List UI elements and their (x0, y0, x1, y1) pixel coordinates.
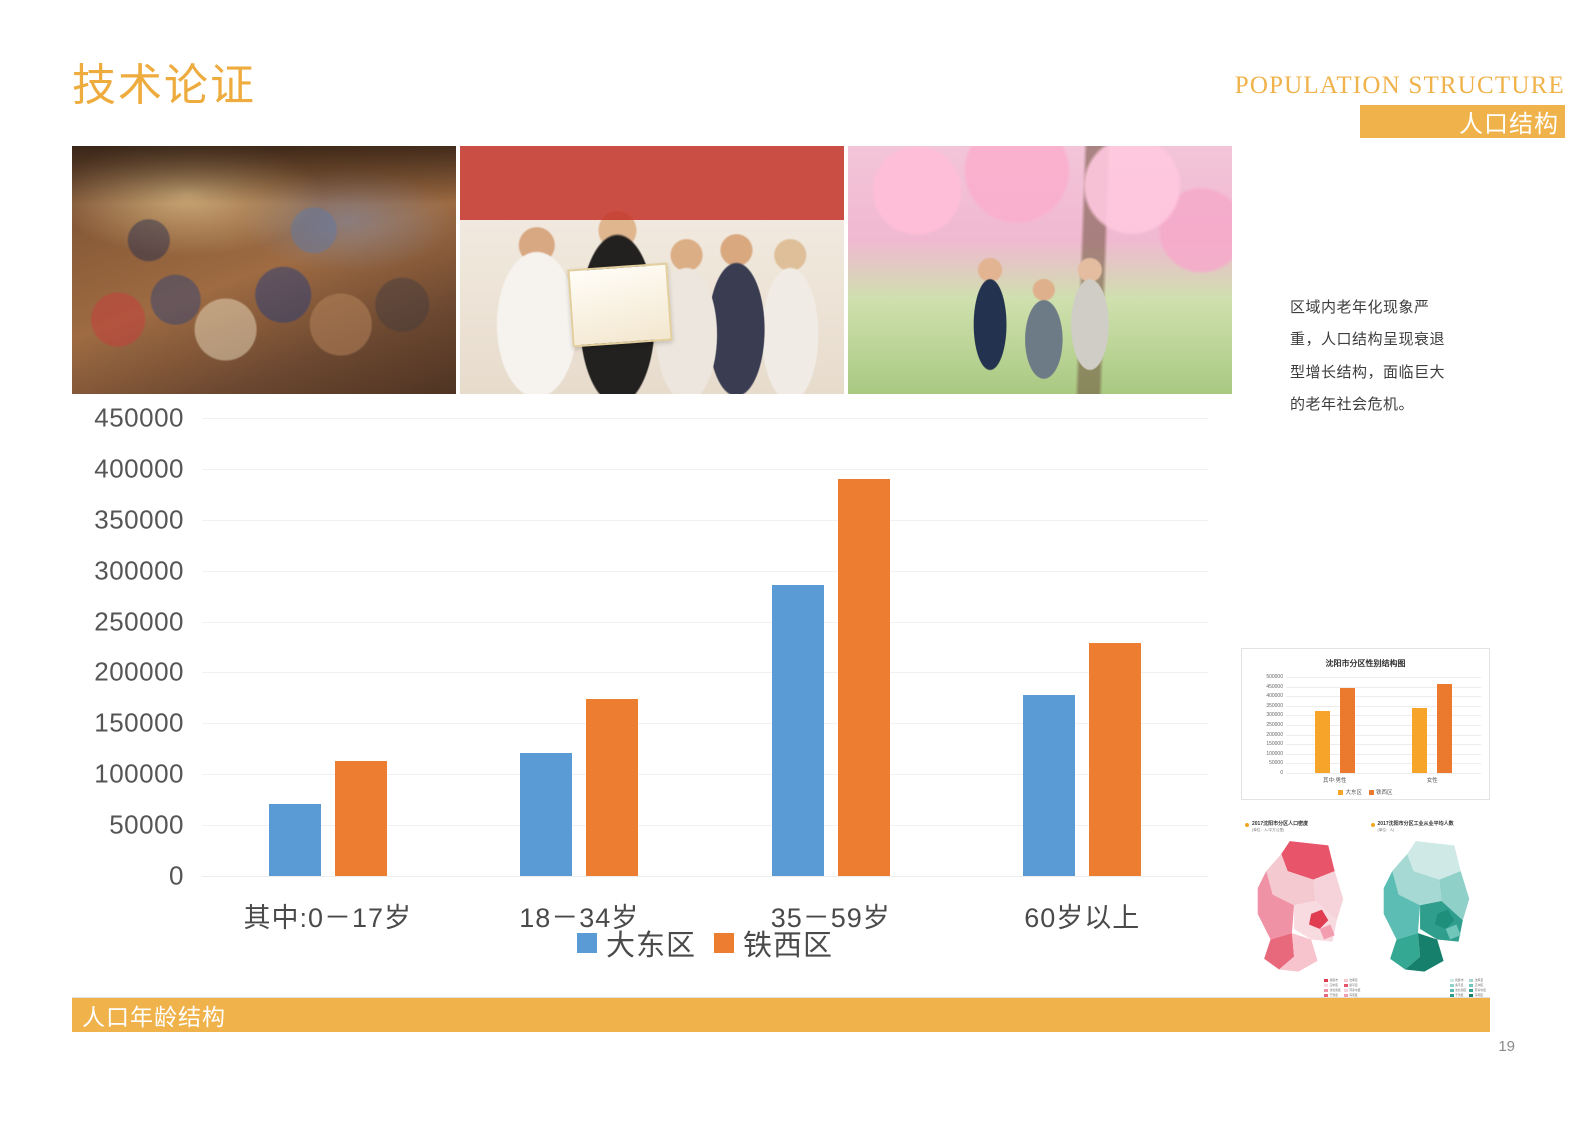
map-shape-employment (1377, 839, 1485, 978)
y-axis-tick-label: 300000 (94, 555, 184, 586)
bar (335, 761, 387, 876)
legend-swatch (1344, 979, 1348, 982)
inset-y-tick-label: 450000 (1266, 684, 1283, 690)
bar (772, 585, 824, 876)
inset-bar-group: 女性 (1384, 677, 1482, 773)
chart-legend: 大东区铁西区 (202, 922, 1208, 964)
page-number: 19 (1498, 1038, 1515, 1055)
map-legend-density: 新民市 法库县 辽中区 康平县 沈北新区 苏家屯区 于洪区 浑南区 (1324, 978, 1360, 997)
inset-chart-legend: 大东区铁西区 (1242, 788, 1489, 796)
inset-y-tick-label: 100000 (1266, 751, 1283, 757)
map-legend-item: 新民市 (1450, 978, 1467, 982)
legend-swatch (1469, 984, 1473, 987)
legend-item: 大东区 (577, 922, 696, 964)
map-legend-item: 苏家屯区 (1344, 988, 1361, 992)
legend-swatch (1469, 979, 1473, 982)
map-header: 2017沈阳市分区工业从业平均人数 (1367, 815, 1491, 827)
legend-swatch (714, 933, 734, 953)
map-legend-item: 法库县 (1344, 978, 1361, 982)
inset-legend-item: 铁西区 (1369, 788, 1393, 796)
y-axis-tick-label: 150000 (94, 708, 184, 739)
legend-swatch (1450, 979, 1454, 982)
map-employment-svg (1377, 839, 1485, 978)
map-legend-item: 康平县 (1344, 983, 1361, 987)
map-legend-item: 辽中区 (1469, 983, 1486, 987)
map-legend-item: 沈北新区 (1324, 988, 1341, 992)
inset-plot-area: 0500001000001500002000002500003000003500… (1286, 677, 1481, 773)
map-industrial-employment: 2017沈阳市分区工业从业平均人数 (单位：人) 新民市 法库县 (1367, 815, 1491, 1000)
header-english-title: POPULATION STRUCTURE (1235, 72, 1565, 100)
legend-label: 沈北新区 (1455, 988, 1466, 992)
header-chinese-subtitle-bar: 人口结构 (1360, 105, 1565, 138)
slide: 技术论证 POPULATION STRUCTURE 人口结构 区域内老年化现象严… (0, 0, 1587, 1122)
inset-x-tick-label: 其中:男性 (1286, 776, 1384, 784)
legend-swatch (1450, 989, 1454, 992)
y-axis-tick-label: 200000 (94, 657, 184, 688)
legend-label: 铁西区 (1376, 788, 1393, 796)
map-population-density: 2017沈阳市分区人口密度 (单位：人/平方公里) 新民市 法库县 (1241, 815, 1365, 1000)
legend-item: 铁西区 (714, 922, 833, 964)
legend-swatch (1469, 989, 1473, 992)
inset-legend-item: 大东区 (1338, 788, 1362, 796)
map-legend-item: 辽中区 (1324, 983, 1341, 987)
inset-y-tick-label: 150000 (1266, 741, 1283, 747)
inset-x-tick-label: 女性 (1384, 776, 1482, 784)
map-legend-item: 苏家屯区 (1469, 988, 1486, 992)
page-title: 技术论证 (72, 62, 256, 110)
inset-y-tick-label: 250000 (1266, 722, 1283, 728)
map-legend-item: 新民市 (1324, 978, 1341, 982)
inset-gridline: 0 (1286, 773, 1481, 774)
legend-label: 铁西区 (743, 922, 833, 964)
footer-label-bar: 人口年龄结构 (72, 998, 1490, 1032)
inset-bar (1437, 684, 1452, 773)
legend-label: 康平县 (1455, 983, 1463, 987)
y-axis-tick-label: 350000 (94, 504, 184, 535)
bar (586, 699, 638, 876)
inset-y-tick-label: 300000 (1266, 712, 1283, 718)
legend-label: 新民市 (1330, 978, 1338, 982)
legend-swatch (577, 933, 597, 953)
bullet-dot-icon (1245, 823, 1249, 827)
gridline: 0 (202, 876, 1208, 877)
legend-label: 辽中区 (1475, 983, 1483, 987)
photo-elderly-couple-certificate (460, 146, 844, 394)
legend-swatch (1369, 790, 1374, 795)
legend-swatch (1324, 979, 1328, 982)
map-title: 2017沈阳市分区人口密度 (1252, 821, 1308, 827)
population-age-structure-chart: 0500001000001500002000002500003000003500… (72, 398, 1220, 998)
legend-label: 法库县 (1475, 978, 1483, 982)
legend-label: 辽中区 (1330, 983, 1338, 987)
y-axis-tick-label: 100000 (94, 759, 184, 790)
chart-bars: 其中:0－17岁18－34岁35－59岁60岁以上 (202, 418, 1208, 876)
legend-swatch (1344, 984, 1348, 987)
y-axis-tick-label: 250000 (94, 606, 184, 637)
inset-y-tick-label: 200000 (1266, 732, 1283, 738)
legend-swatch (1344, 989, 1348, 992)
inset-y-tick-label: 0 (1280, 770, 1283, 776)
legend-swatch (1338, 790, 1343, 795)
gender-structure-inset-chart: 沈阳市分区性别结构图 05000010000015000020000025000… (1241, 648, 1490, 800)
legend-label: 苏家屯区 (1475, 988, 1486, 992)
bar-group: 其中:0－17岁 (202, 418, 454, 876)
inset-y-tick-label: 350000 (1266, 703, 1283, 709)
legend-label: 新民市 (1455, 978, 1463, 982)
photo-elderly-cherry-blossom (848, 146, 1232, 394)
legend-label: 苏家屯区 (1349, 988, 1360, 992)
map-legend-item: 康平县 (1450, 983, 1467, 987)
bar (520, 753, 572, 876)
map-subtitle: (单位：人/平方公里) (1252, 828, 1365, 833)
legend-label: 法库县 (1349, 978, 1357, 982)
bar (838, 479, 890, 876)
y-axis-tick-label: 50000 (109, 810, 184, 841)
map-title: 2017沈阳市分区工业从业平均人数 (1378, 821, 1454, 827)
inset-bar (1340, 688, 1355, 773)
bullet-dot-icon (1371, 823, 1375, 827)
legend-swatch (1324, 989, 1328, 992)
photo-elderly-gathering (72, 146, 456, 394)
inset-bar-group: 其中:男性 (1286, 677, 1384, 773)
legend-label: 康平县 (1349, 983, 1357, 987)
header-right-block: POPULATION STRUCTURE 人口结构 (1235, 72, 1565, 138)
footer-label: 人口年龄结构 (82, 998, 226, 1032)
inset-chart-title: 沈阳市分区性别结构图 (1242, 658, 1489, 669)
legend-swatch (1450, 984, 1454, 987)
map-legend-item: 沈北新区 (1450, 988, 1467, 992)
bar-group: 35－59岁 (705, 418, 957, 876)
map-legend-employment: 新民市 法库县 康平县 辽中区 沈北新区 苏家屯区 于洪区 浑南区 (1450, 978, 1486, 997)
side-note-text: 区域内老年化现象严重，人口结构呈现衰退型增长结构，面临巨大的老年社会危机。 (1290, 292, 1450, 421)
inset-y-tick-label: 500000 (1266, 674, 1283, 680)
chart-plot-area: 0500001000001500002000002500003000003500… (202, 418, 1208, 876)
bar (1023, 695, 1075, 876)
map-subtitle: (单位：人) (1378, 828, 1491, 833)
photo-strip (72, 146, 1232, 394)
map-thumbnails: 2017沈阳市分区人口密度 (单位：人/平方公里) 新民市 法库县 (1241, 815, 1490, 1000)
map-density-svg (1251, 839, 1359, 978)
bar (269, 804, 321, 876)
bar-group: 60岁以上 (957, 418, 1209, 876)
legend-swatch (1324, 984, 1328, 987)
map-header: 2017沈阳市分区人口密度 (1241, 815, 1365, 827)
inset-y-tick-label: 50000 (1269, 760, 1283, 766)
inset-bars: 其中:男性女性 (1286, 677, 1481, 773)
map-legend-item: 法库县 (1469, 978, 1486, 982)
y-axis-tick-label: 400000 (94, 453, 184, 484)
legend-label: 大东区 (1345, 788, 1362, 796)
inset-y-tick-label: 400000 (1266, 693, 1283, 699)
legend-label: 大东区 (606, 922, 696, 964)
y-axis-tick-label: 0 (169, 861, 184, 892)
inset-bar (1412, 708, 1427, 773)
header-chinese-subtitle: 人口结构 (1459, 104, 1559, 139)
inset-bar (1315, 711, 1330, 773)
y-axis-tick-label: 450000 (94, 403, 184, 434)
legend-label: 沈北新区 (1330, 988, 1341, 992)
bar (1089, 643, 1141, 876)
bar-group: 18－34岁 (454, 418, 706, 876)
map-shape-density (1251, 839, 1359, 978)
